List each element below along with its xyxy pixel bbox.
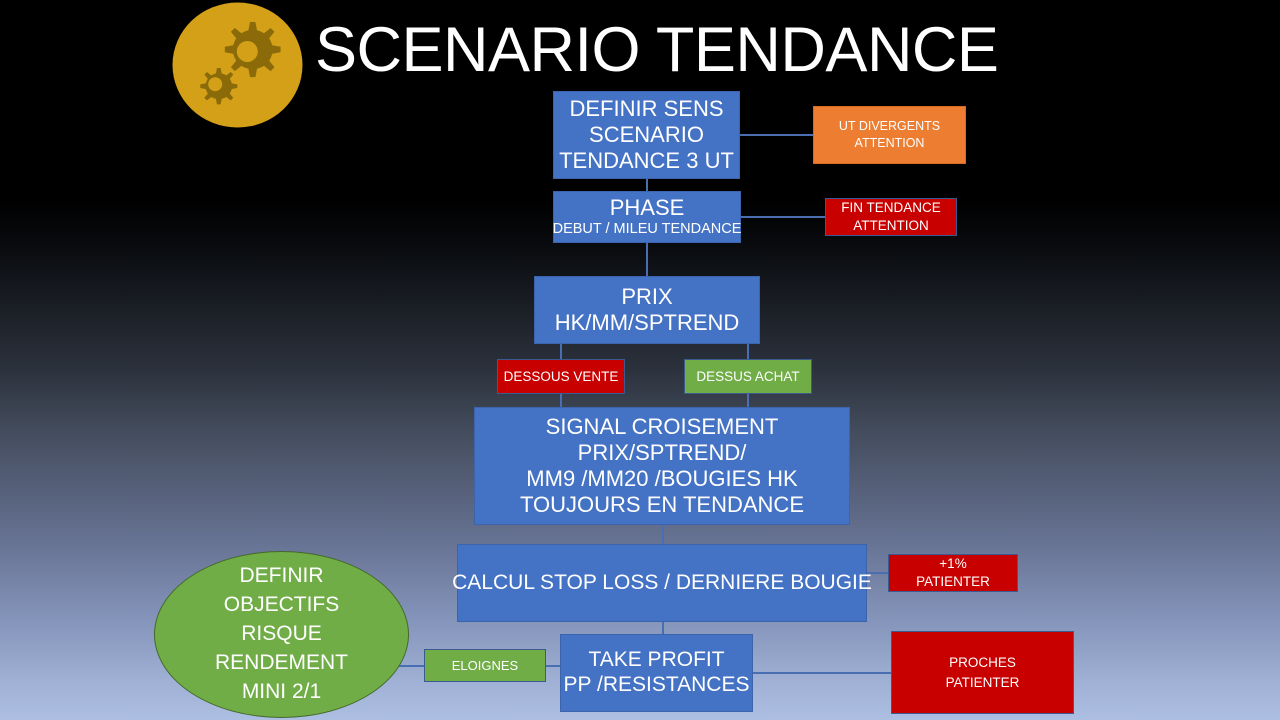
node-prix[interactable]: PRIX HK/MM/SPTREND: [534, 276, 760, 344]
connector-dessus-to-signal: [747, 393, 749, 408]
node-dessous-vente-label: DESSOUS VENTE: [504, 369, 619, 385]
node-take-profit-line1: TAKE PROFIT: [588, 648, 724, 673]
node-dessus-achat[interactable]: DESSUS ACHAT: [684, 359, 812, 394]
node-ut-divergents-line2: ATTENTION: [855, 135, 925, 152]
node-calcul-stop-loss-label: CALCUL STOP LOSS / DERNIERE BOUGIE: [452, 571, 872, 596]
node-fin-tendance[interactable]: FIN TENDANCE ATTENTION: [825, 198, 957, 236]
node-plus-one-percent-line2: PATIENTER: [916, 573, 990, 591]
connector-signal-to-stoploss: [662, 524, 664, 545]
node-definir-sens-line1: DEFINIR SENS: [569, 96, 723, 122]
node-plus-one-percent[interactable]: +1% PATIENTER: [888, 554, 1018, 592]
node-definir-sens-line2: SCENARIO: [589, 122, 704, 148]
node-eloignes[interactable]: ELOIGNES: [424, 649, 546, 682]
connector-eloignes-to-takeprofit: [545, 665, 561, 667]
node-signal-croisement[interactable]: SIGNAL CROISEMENT PRIX/SPTREND/ MM9 /MM2…: [474, 407, 850, 525]
node-ut-divergents-line1: UT DIVERGENTS: [839, 118, 940, 135]
node-objectifs-line3: RISQUE: [241, 620, 322, 649]
node-phase-subtitle: DEBUT / MILEU TENDANCE: [553, 221, 742, 238]
node-fin-tendance-line1: FIN TENDANCE: [841, 199, 941, 217]
connector-phase-to-fin: [741, 216, 826, 218]
slide-canvas: SCENARIO TENDANCE DEFINIR SENS SCENARIO …: [0, 0, 1280, 720]
connector-phase-to-prix: [646, 243, 648, 277]
node-calcul-stop-loss[interactable]: CALCUL STOP LOSS / DERNIERE BOUGIE: [457, 544, 867, 622]
node-objectifs-line1: DEFINIR: [240, 562, 324, 591]
node-objectifs-line5: MINI 2/1: [242, 678, 321, 707]
node-plus-one-percent-line1: +1%: [939, 555, 966, 573]
node-take-profit[interactable]: TAKE PROFIT PP /RESISTANCES: [560, 634, 753, 712]
node-objectifs-line2: OBJECTIFS: [224, 591, 340, 620]
connector-prix-to-dessus: [747, 344, 749, 360]
node-signal-line3: MM9 /MM20 /BOUGIES HK: [526, 466, 797, 492]
node-prix-line1: PRIX: [621, 284, 672, 310]
connector-takeprofit-to-proches: [752, 672, 892, 674]
connector-stoploss-to-takeprofit: [662, 621, 664, 635]
node-proches-line2: PATIENTER: [946, 673, 1020, 693]
page-title: SCENARIO TENDANCE: [315, 14, 998, 86]
node-signal-line4: TOUJOURS EN TENDANCE: [520, 492, 804, 518]
node-definir-objectifs[interactable]: DEFINIR OBJECTIFS RISQUE RENDEMENT MINI …: [154, 551, 409, 718]
node-definir-sens[interactable]: DEFINIR SENS SCENARIO TENDANCE 3 UT: [553, 91, 740, 179]
connector-dessous-to-signal: [560, 393, 562, 408]
node-phase-title: PHASE: [610, 195, 685, 221]
connector-definir-to-ut: [740, 134, 814, 136]
node-eloignes-label: ELOIGNES: [452, 658, 518, 673]
node-proches[interactable]: PROCHES PATIENTER: [891, 631, 1074, 714]
node-dessous-vente[interactable]: DESSOUS VENTE: [497, 359, 625, 394]
connector-prix-to-dessous: [560, 344, 562, 360]
node-phase[interactable]: PHASE DEBUT / MILEU TENDANCE: [553, 191, 741, 243]
node-prix-line2: HK/MM/SPTREND: [555, 310, 740, 336]
node-signal-line2: PRIX/SPTREND/: [578, 440, 747, 466]
node-take-profit-line2: PP /RESISTANCES: [564, 673, 750, 698]
node-fin-tendance-line2: ATTENTION: [853, 217, 929, 235]
node-signal-line1: SIGNAL CROISEMENT: [546, 414, 779, 440]
node-ut-divergents[interactable]: UT DIVERGENTS ATTENTION: [813, 106, 966, 164]
node-objectifs-line4: RENDEMENT: [215, 649, 348, 678]
node-dessus-achat-label: DESSUS ACHAT: [696, 369, 799, 385]
node-definir-sens-line3: TENDANCE 3 UT: [559, 148, 734, 174]
gears-icon: [172, 2, 303, 128]
node-proches-line1: PROCHES: [949, 653, 1016, 673]
